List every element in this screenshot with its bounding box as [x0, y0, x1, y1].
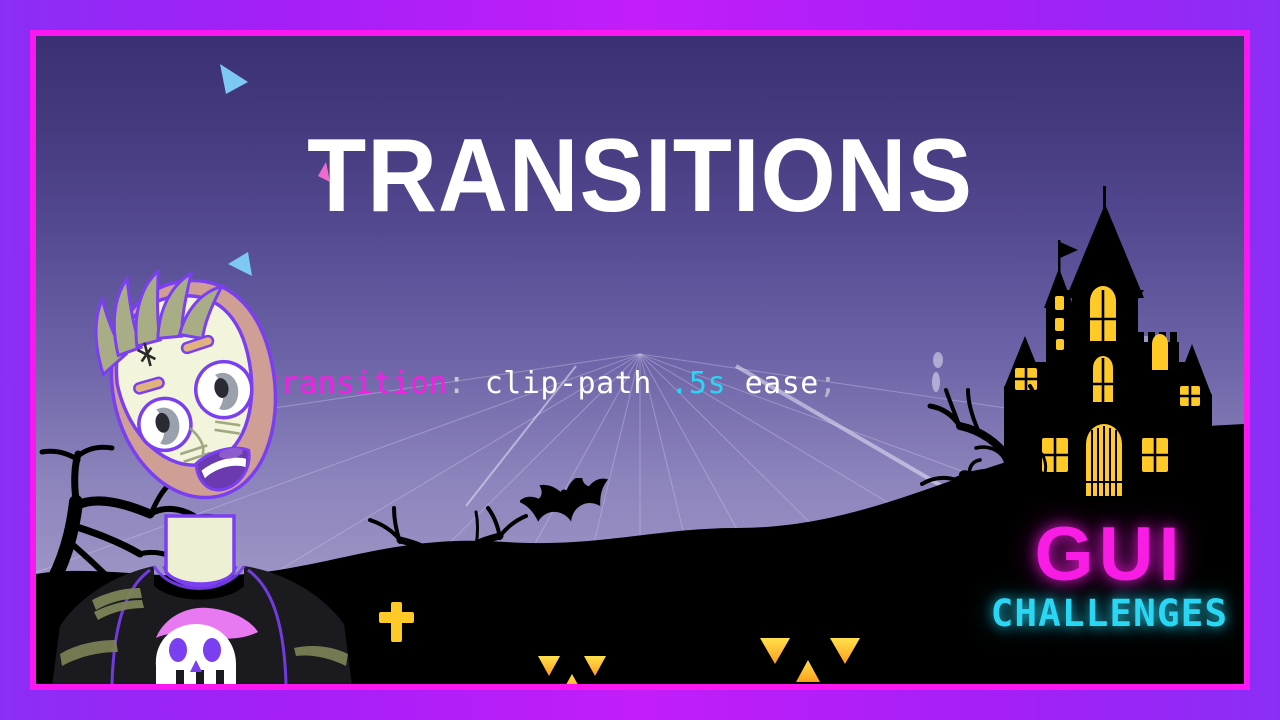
jack-o-lantern-far-left	[366, 652, 476, 684]
jack-o-lantern-right	[726, 592, 896, 684]
bat-icon	[520, 478, 616, 540]
code-easing: ease	[745, 366, 819, 401]
page-title: TRANSITIONS	[78, 124, 1201, 228]
logo-line-gui: GUI	[993, 517, 1226, 593]
host-avatar	[46, 266, 366, 684]
code-colon: :	[448, 366, 467, 401]
code-value: clip-path	[485, 366, 652, 401]
confetti-triangle-cyan-large	[214, 60, 254, 100]
thumbnail-border-frame: TRANSITIONS transition: clip-path .5s ea…	[30, 30, 1250, 690]
code-duration: .5s	[670, 366, 726, 401]
jack-o-lantern-center	[510, 616, 640, 684]
code-semicolon: ;	[819, 366, 838, 401]
mist-wisp	[924, 348, 954, 408]
halloween-scene: TRANSITIONS transition: clip-path .5s ea…	[36, 36, 1244, 684]
logo-line-challenges: CHALLENGES	[991, 595, 1228, 632]
gui-challenges-logo: GUI CHALLENGES	[993, 517, 1226, 632]
